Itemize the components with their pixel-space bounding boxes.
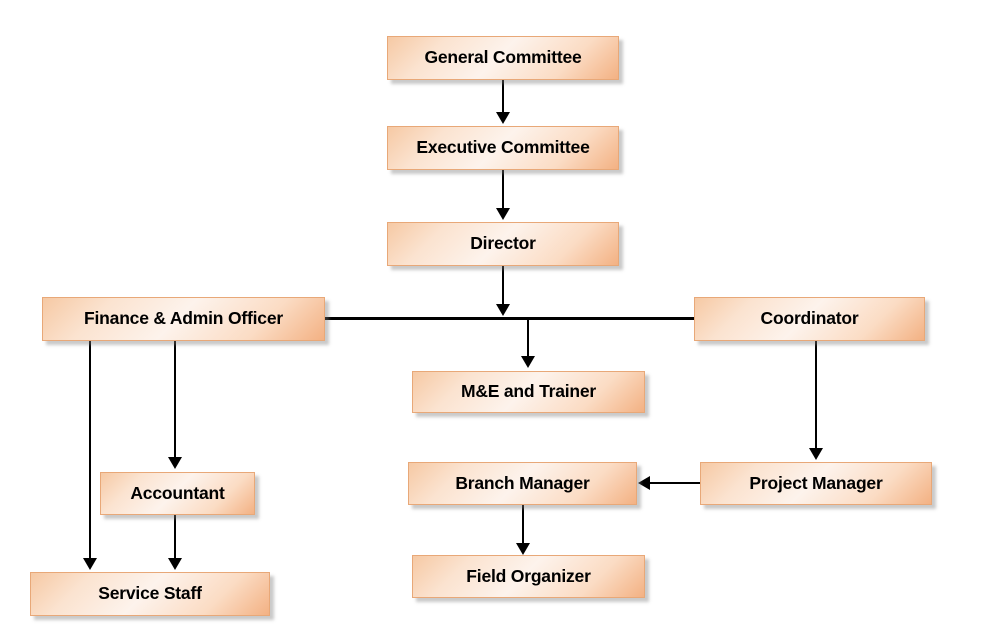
node-label-general-committee: General Committee: [424, 49, 581, 67]
node-accountant[interactable]: Accountant: [100, 472, 255, 515]
org-chart-canvas: General Committee Executive Committee Di…: [0, 0, 995, 644]
arrowhead-bus-to-me-trainer: [521, 356, 535, 368]
node-service-staff[interactable]: Service Staff: [30, 572, 270, 616]
node-label-project-manager: Project Manager: [749, 475, 882, 493]
node-field-organizer[interactable]: Field Organizer: [412, 555, 645, 598]
connector-branch-to-field-organizer: [522, 505, 524, 545]
node-finance-admin-officer[interactable]: Finance & Admin Officer: [42, 297, 325, 341]
arrowhead-finance-to-service-staff: [83, 558, 97, 570]
arrowhead-finance-to-accountant: [168, 457, 182, 469]
arrowhead-accountant-to-service-staff: [168, 558, 182, 570]
connector-executive-to-director: [502, 170, 504, 210]
arrowhead-executive-to-director: [496, 208, 510, 220]
node-label-accountant: Accountant: [130, 485, 224, 503]
connector-finance-to-accountant: [174, 341, 176, 459]
node-label-branch-manager: Branch Manager: [455, 475, 589, 493]
arrowhead-coordinator-to-project-manager: [809, 448, 823, 460]
node-label-finance-admin-officer: Finance & Admin Officer: [84, 310, 283, 328]
node-label-director: Director: [470, 235, 536, 253]
arrowhead-project-to-branch-manager: [638, 476, 650, 490]
connector-bus-to-me-trainer: [527, 318, 529, 358]
node-label-service-staff: Service Staff: [98, 585, 201, 603]
connector-director-to-bus: [502, 266, 504, 306]
node-branch-manager[interactable]: Branch Manager: [408, 462, 637, 505]
connector-project-to-branch-manager: [649, 482, 700, 484]
connector-horizontal-bus: [324, 317, 696, 320]
arrowhead-director-to-bus: [496, 304, 510, 316]
node-director[interactable]: Director: [387, 222, 619, 266]
connector-coordinator-to-project-manager: [815, 341, 817, 451]
node-label-coordinator: Coordinator: [761, 310, 859, 328]
node-project-manager[interactable]: Project Manager: [700, 462, 932, 505]
node-general-committee[interactable]: General Committee: [387, 36, 619, 80]
node-me-and-trainer[interactable]: M&E and Trainer: [412, 371, 645, 413]
node-coordinator[interactable]: Coordinator: [694, 297, 925, 341]
connector-general-to-executive: [502, 80, 504, 114]
arrowhead-general-to-executive: [496, 112, 510, 124]
node-label-field-organizer: Field Organizer: [466, 568, 590, 586]
connector-accountant-to-service-staff: [174, 515, 176, 560]
arrowhead-branch-to-field-organizer: [516, 543, 530, 555]
node-executive-committee[interactable]: Executive Committee: [387, 126, 619, 170]
node-label-me-and-trainer: M&E and Trainer: [461, 383, 596, 401]
connector-finance-to-service-staff: [89, 341, 91, 560]
node-label-executive-committee: Executive Committee: [416, 139, 589, 157]
